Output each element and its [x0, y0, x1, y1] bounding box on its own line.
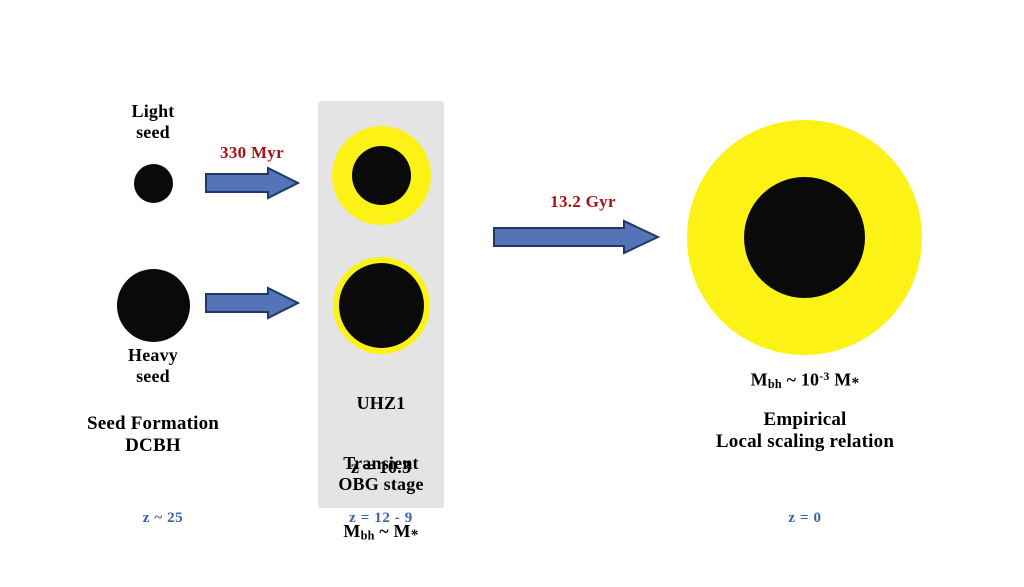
- transition-time-13gyr: 13.2 Gyr: [524, 192, 642, 212]
- local-universe-caption: Empirical Local scaling relation: [638, 409, 972, 454]
- redshift-label-local: z = 0: [745, 510, 865, 528]
- local-mass-relation: Mbh ~ 10-3 M*: [678, 369, 932, 393]
- obg-stage-caption: Transient OBG stage: [311, 453, 451, 495]
- arrow-heavy-seed-to-obg: [204, 286, 300, 320]
- light-seed-black-hole: [134, 164, 173, 203]
- heavy-seed-black-hole: [117, 269, 190, 342]
- light-seed-label: Light seed: [103, 101, 203, 143]
- seed-formation-caption: Seed Formation DCBH: [43, 413, 263, 458]
- redshift-label-seed: z ~ 25: [103, 510, 223, 528]
- arrow-obg-to-local: [492, 218, 660, 256]
- redshift-label-obg: z = 12 - 9: [318, 510, 444, 528]
- obg-bottom-black-hole: [339, 263, 424, 348]
- heavy-seed-label: Heavy seed: [103, 345, 203, 387]
- local-supermassive-black-hole: [744, 177, 865, 298]
- transition-time-330myr: 330 Myr: [200, 143, 304, 163]
- diagram-canvas: Light seed Heavy seed Seed Formation DCB…: [0, 0, 1024, 576]
- obg-top-black-hole: [352, 146, 411, 205]
- uhz1-name: UHZ1: [316, 393, 446, 414]
- arrow-light-seed-to-obg: [204, 166, 300, 200]
